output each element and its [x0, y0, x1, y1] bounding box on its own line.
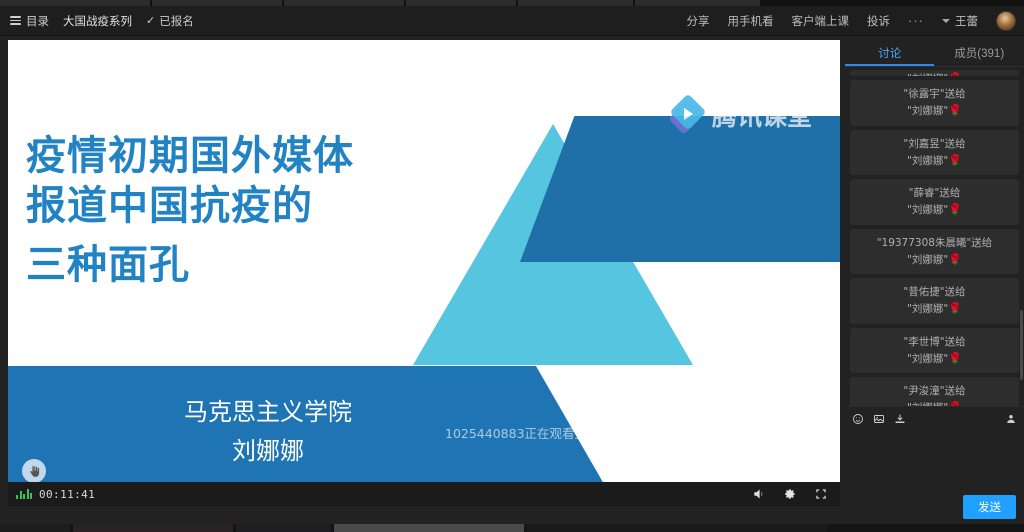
enrolled-status: ✓ 已报名	[146, 13, 194, 29]
catalog-menu-button[interactable]: 目录	[10, 13, 49, 29]
complaint-button[interactable]: 投诉	[867, 13, 890, 29]
list-item[interactable]: "刘娜娜"🌹	[850, 70, 1019, 76]
chevron-down-icon	[942, 19, 950, 23]
list-item[interactable]: "刘嘉昱"送给 "刘娜娜"🌹	[850, 130, 1019, 176]
avatar[interactable]	[996, 11, 1016, 31]
fullscreen-icon[interactable]	[814, 487, 828, 501]
emoji-icon[interactable]	[852, 413, 864, 425]
taskbar-item[interactable]	[527, 524, 827, 532]
user-menu[interactable]: 王蕾	[942, 13, 978, 29]
send-button[interactable]: 发送	[963, 495, 1016, 519]
rose-icon: 🌹	[948, 352, 962, 365]
tab-members[interactable]: 成员(391)	[935, 40, 1024, 66]
rose-icon: 🌹	[948, 72, 962, 76]
slide-title-line2: 报道中国抗疫的	[26, 183, 313, 229]
elapsed-timer: 00:11:41	[39, 488, 95, 501]
taskbar-item[interactable]	[334, 524, 524, 532]
course-name[interactable]: 大国战疫系列	[63, 13, 132, 29]
active-tab-indicator	[845, 64, 934, 66]
message-sender-line: "刘嘉昱"送给	[856, 136, 1013, 152]
message-recipient: "刘娜娜"	[907, 105, 948, 117]
client-class-button[interactable]: 客户端上课	[792, 13, 850, 29]
tencent-classroom-logo: 腾讯课堂	[669, 97, 812, 133]
message-sender-line: "李世博"送给	[856, 334, 1013, 350]
member-icon[interactable]	[1005, 413, 1017, 425]
catalog-label: 目录	[26, 13, 49, 29]
volume-icon[interactable]	[752, 487, 766, 501]
share-button[interactable]: 分享	[687, 13, 710, 29]
logo-text: 腾讯课堂	[712, 97, 812, 133]
message-sender-line: "昔佑捷"送给	[856, 284, 1013, 300]
os-taskbar	[0, 524, 1024, 532]
screenshot-icon[interactable]	[894, 413, 906, 425]
rose-icon: 🌹	[948, 302, 962, 315]
chat-message-list[interactable]: "刘娜娜"🌹 "徐露宇"送给 "刘娜娜"🌹 "刘嘉昱"送给 "刘娜娜"🌹 "薛睿…	[845, 67, 1024, 406]
player-right-controls	[752, 487, 840, 501]
raise-hand-icon	[28, 465, 41, 478]
hamburger-icon	[10, 16, 21, 25]
chat-send-row: 发送	[845, 490, 1024, 524]
message-recipient: "刘娜娜"	[907, 303, 948, 315]
taskbar-item[interactable]	[0, 524, 70, 532]
message-sender-line: "19377308朱晨曦"送给	[856, 235, 1013, 251]
check-icon: ✓	[146, 14, 155, 27]
message-sender-line: "薛睿"送给	[856, 185, 1013, 201]
header-left-group: 目录 大国战疫系列 ✓ 已报名	[0, 13, 194, 29]
presentation-slide: 疫情初期国外媒体 报道中国抗疫的 三种面孔 马克思主义学院 刘娜娜 腾讯课堂 1…	[8, 40, 840, 491]
viewer-watermark: 1025440883正在观看直播	[445, 423, 600, 442]
list-item[interactable]: "薛睿"送给 "刘娜娜"🌹	[850, 179, 1019, 225]
list-item[interactable]: "徐露宇"送给 "刘娜娜"🌹	[850, 80, 1019, 126]
message-sender-line: "尹浚潼"送给	[856, 383, 1013, 399]
header-right-group: 分享 用手机看 客户端上课 投诉 ··· 王蕾	[687, 11, 1024, 31]
list-item[interactable]: "尹浚潼"送给 "刘娜娜"🌹	[850, 377, 1019, 406]
message-recipient: "刘娜娜"	[907, 155, 948, 167]
message-recipient: "刘娜娜"	[907, 353, 948, 365]
chat-panel: 讨论 成员(391) "刘娜娜"🌹 "徐露宇"送给 "刘娜娜"🌹 "刘嘉昱"送给…	[845, 40, 1024, 524]
video-stage[interactable]: 疫情初期国外媒体 报道中国抗疫的 三种面孔 马克思主义学院 刘娜娜 腾讯课堂 1…	[8, 40, 840, 506]
chat-scrollbar[interactable]	[1020, 310, 1023, 380]
taskbar-item[interactable]	[73, 524, 233, 532]
slide-title: 疫情初期国外媒体 报道中国抗疫的 三种面孔	[26, 132, 496, 291]
player-control-bar: 00:11:41	[8, 482, 840, 506]
list-item[interactable]: "李世博"送给 "刘娜娜"🌹	[850, 328, 1019, 374]
chat-input[interactable]	[845, 430, 1024, 490]
image-icon[interactable]	[873, 413, 885, 425]
message-recipient: "刘娜娜"	[907, 254, 948, 266]
chat-toolbar	[845, 406, 1024, 430]
watch-on-phone-button[interactable]: 用手机看	[728, 13, 774, 29]
gear-icon[interactable]	[783, 487, 797, 501]
live-audio-meter-icon	[16, 489, 32, 499]
page-header: 目录 大国战疫系列 ✓ 已报名 分享 用手机看 客户端上课 投诉 ··· 王蕾	[0, 6, 1024, 36]
tab-discussion[interactable]: 讨论	[845, 40, 935, 66]
user-name-label: 王蕾	[955, 13, 978, 29]
slide-title-line1: 疫情初期国外媒体	[26, 133, 354, 179]
more-options-icon[interactable]: ···	[908, 13, 924, 28]
slide-title-line3: 三种面孔	[26, 241, 496, 291]
chat-tabs: 讨论 成员(391)	[845, 40, 1024, 66]
list-item[interactable]: "19377308朱晨曦"送给 "刘娜娜"🌹	[850, 229, 1019, 275]
rose-icon: 🌹	[948, 203, 962, 216]
blue-block-decoration-top	[520, 116, 840, 262]
enrolled-label: 已报名	[159, 13, 194, 29]
rose-icon: 🌹	[948, 104, 962, 117]
message-sender-line: "徐露宇"送给	[856, 86, 1013, 102]
play-diamond-icon	[669, 97, 705, 133]
rose-icon: 🌹	[948, 253, 962, 266]
list-item[interactable]: "昔佑捷"送给 "刘娜娜"🌹	[850, 278, 1019, 324]
tencent-classroom-live-page: 目录 大国战疫系列 ✓ 已报名 分享 用手机看 客户端上课 投诉 ··· 王蕾	[0, 0, 1024, 532]
rose-icon: 🌹	[948, 154, 962, 167]
message-recipient: "刘娜娜"	[907, 73, 948, 76]
message-recipient: "刘娜娜"	[907, 204, 948, 216]
raise-hand-button[interactable]	[22, 459, 46, 483]
taskbar-item[interactable]	[236, 524, 331, 532]
